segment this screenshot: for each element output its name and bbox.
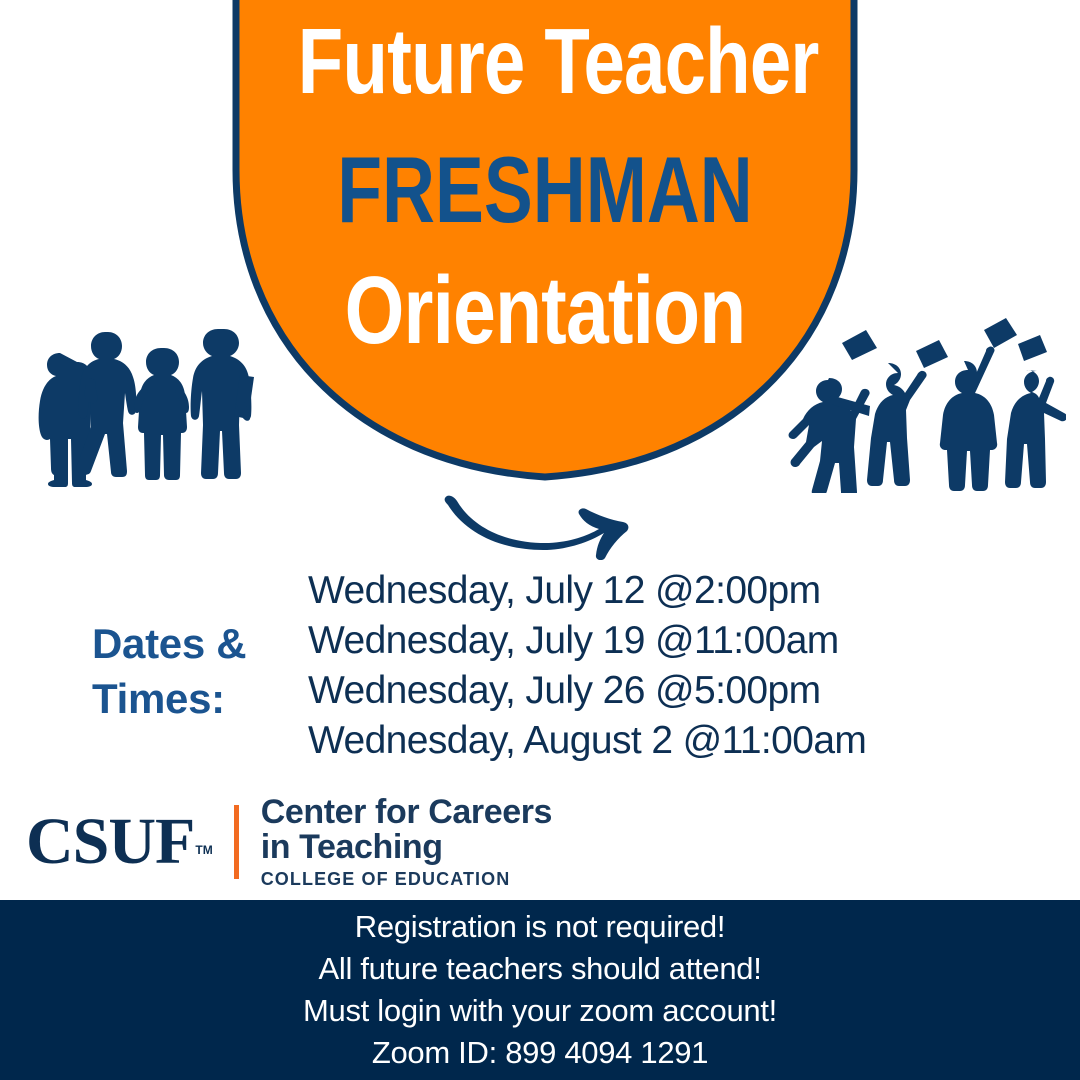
list-item: Wednesday, July 26 @5:00pm: [308, 666, 1008, 716]
title-line-orientation: Orientation: [298, 263, 792, 359]
poster-canvas: Future Teacher FRESHMAN Orientation: [0, 0, 1080, 1080]
trademark-symbol: TM: [195, 843, 212, 857]
footer-line: Must login with your zoom account!: [303, 990, 777, 1032]
footer-line: All future teachers should attend!: [318, 948, 761, 990]
csuf-logo-lockup: CSUFTM Center for Careers in Teaching CO…: [26, 792, 552, 892]
title-line-freshman: FRESHMAN: [304, 143, 786, 237]
dates-list: Wednesday, July 12 @2:00pm Wednesday, Ju…: [308, 566, 1008, 766]
logo-line-2: in Teaching: [261, 830, 552, 865]
csuf-wordmark: CSUFTM: [26, 809, 216, 875]
csuf-wordmark-text: CSUF: [26, 805, 194, 878]
logo-department-text: Center for Careers in Teaching COLLEGE O…: [261, 795, 552, 889]
dates-times-label: Dates & Times:: [92, 616, 292, 727]
list-item: Wednesday, July 12 @2:00pm: [308, 566, 1008, 616]
title-line-future-teacher: Future Teacher: [298, 16, 792, 107]
title-block: Future Teacher FRESHMAN Orientation: [236, 16, 854, 359]
logo-line-1: Center for Careers: [261, 795, 552, 830]
standing-students-silhouette-icon: [22, 312, 272, 492]
list-item: Wednesday, July 19 @11:00am: [308, 616, 1008, 666]
footer-zoom-id: Zoom ID: 899 4094 1291: [372, 1032, 708, 1074]
logo-line-3: COLLEGE OF EDUCATION: [261, 870, 552, 888]
dates-and-times-section: Dates & Times: Wednesday, July 12 @2:00p…: [0, 566, 1080, 786]
curved-arrow-icon: [437, 488, 647, 560]
footer-line: Registration is not required!: [355, 906, 725, 948]
footer-band: Registration is not required! All future…: [0, 900, 1080, 1080]
list-item: Wednesday, August 2 @11:00am: [308, 716, 1008, 766]
logo-divider: [234, 805, 239, 879]
